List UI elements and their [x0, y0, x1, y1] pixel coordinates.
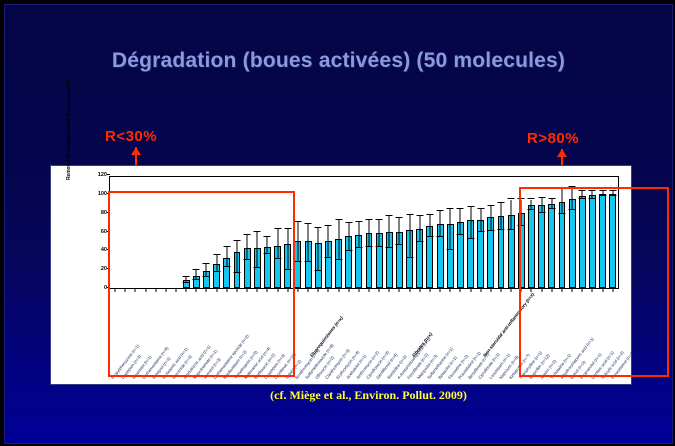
error-bar — [470, 207, 471, 239]
slide-canvas: Dégradation (boues activées) (50 molecul… — [4, 4, 673, 444]
error-bar-cap — [305, 223, 312, 224]
error-bar-cap — [477, 208, 484, 209]
citation-text: (cf. Miège et al., Environ. Pollut. 2009… — [270, 388, 467, 403]
error-bar-cap — [406, 257, 413, 258]
error-bar-cap — [315, 270, 322, 271]
error-bar — [399, 218, 400, 244]
error-bar — [318, 228, 319, 271]
y-tick-label: 100 — [98, 191, 107, 197]
error-bar-cap — [508, 198, 515, 199]
error-bar-cap — [294, 221, 301, 222]
y-axis-title-wrap: Removal for sludge activated processes (… — [53, 172, 65, 292]
error-bar-cap — [416, 215, 423, 216]
error-bar-cap — [426, 236, 433, 237]
error-bar — [480, 209, 481, 232]
bar-slot[interactable] — [506, 177, 516, 288]
highlight-box-low — [108, 191, 295, 377]
bar-slot[interactable] — [394, 177, 404, 288]
error-bar-cap — [477, 231, 484, 232]
error-bar-cap — [416, 241, 423, 242]
error-bar — [511, 200, 512, 230]
x-axis-group-label: Fibrates (n=x) — [411, 332, 433, 358]
error-bar — [308, 224, 309, 262]
error-bar-cap — [294, 261, 301, 262]
error-bar — [450, 209, 451, 250]
y-tick-label: 40 — [101, 247, 107, 253]
error-bar — [328, 226, 329, 258]
bar-slot[interactable] — [445, 177, 455, 288]
error-bar-cap — [345, 222, 352, 223]
error-bar-cap — [335, 259, 342, 260]
error-bar-cap — [457, 208, 464, 209]
error-bar — [297, 222, 298, 262]
error-bar — [490, 206, 491, 230]
error-bar-cap — [498, 229, 505, 230]
bar-slot[interactable] — [496, 177, 506, 288]
error-bar-cap — [508, 229, 515, 230]
y-tick-label: 60 — [101, 229, 107, 235]
bar-slot[interactable] — [425, 177, 435, 288]
error-bar — [348, 223, 349, 251]
bar-slot[interactable] — [486, 177, 496, 288]
error-bar-cap — [355, 247, 362, 248]
error-bar — [389, 216, 390, 248]
error-bar-cap — [406, 214, 413, 215]
error-bar-cap — [457, 234, 464, 235]
y-tick-label: 20 — [101, 266, 107, 272]
error-bar-cap — [487, 205, 494, 206]
bar-slot[interactable] — [303, 177, 313, 288]
chart-container: Removal for sludge activated processes (… — [50, 165, 632, 385]
bar-slot[interactable] — [354, 177, 364, 288]
error-bar — [440, 211, 441, 237]
y-tick-label: 120 — [98, 172, 107, 178]
annotation-label-low: R<30% — [105, 128, 157, 145]
error-bar-cap — [355, 221, 362, 222]
bar-slot[interactable] — [323, 177, 333, 288]
error-bar — [419, 216, 420, 242]
error-bar-cap — [305, 261, 312, 262]
bar-slot[interactable] — [364, 177, 374, 288]
page-title: Dégradation (boues activées) (50 molecul… — [5, 49, 672, 73]
bar-slot[interactable] — [465, 177, 475, 288]
error-bar-cap — [345, 250, 352, 251]
error-bar-cap — [325, 225, 332, 226]
error-bar-cap — [426, 214, 433, 215]
y-axis-title: Removal for sludge activated processes (… — [66, 72, 76, 180]
highlight-box-high — [519, 187, 669, 377]
error-bar — [429, 215, 430, 238]
error-bar — [338, 220, 339, 260]
y-tick-label: 80 — [101, 210, 107, 216]
bar-slot[interactable] — [313, 177, 323, 288]
bar-slot[interactable] — [374, 177, 384, 288]
error-bar — [379, 220, 380, 246]
error-bar-cap — [365, 219, 372, 220]
error-bar-cap — [315, 227, 322, 228]
error-bar-cap — [376, 246, 383, 247]
citation: (cf. Miège et al., Environ. Pollut. 2009… — [5, 388, 672, 403]
error-bar-cap — [376, 219, 383, 220]
error-bar — [368, 220, 369, 246]
error-bar-cap — [447, 249, 454, 250]
error-bar — [501, 203, 502, 229]
bar-slot[interactable] — [333, 177, 343, 288]
error-bar-cap — [437, 236, 444, 237]
error-bar-cap — [365, 246, 372, 247]
error-bar-cap — [498, 202, 505, 203]
error-bar-cap — [386, 247, 393, 248]
error-bar-cap — [396, 244, 403, 245]
bar-slot[interactable] — [435, 177, 445, 288]
error-bar-cap — [487, 230, 494, 231]
bar-slot[interactable] — [415, 177, 425, 288]
y-tick-label: 0 — [104, 285, 107, 291]
error-bar — [358, 222, 359, 248]
bar-slot[interactable] — [476, 177, 486, 288]
bar-slot[interactable] — [384, 177, 394, 288]
y-tick-mark — [107, 174, 110, 175]
error-bar-cap — [467, 238, 474, 239]
error-bar-cap — [325, 257, 332, 258]
error-bar-cap — [386, 215, 393, 216]
bar-slot[interactable] — [455, 177, 465, 288]
error-bar-cap — [335, 219, 342, 220]
bar-slot[interactable] — [344, 177, 354, 288]
error-bar-cap — [467, 206, 474, 207]
annotation-label-high: R>80% — [527, 130, 579, 147]
error-bar-cap — [437, 210, 444, 211]
error-bar-cap — [447, 208, 454, 209]
bar-slot[interactable] — [405, 177, 415, 288]
error-bar-cap — [396, 217, 403, 218]
error-bar — [460, 209, 461, 235]
error-bar — [409, 215, 410, 258]
